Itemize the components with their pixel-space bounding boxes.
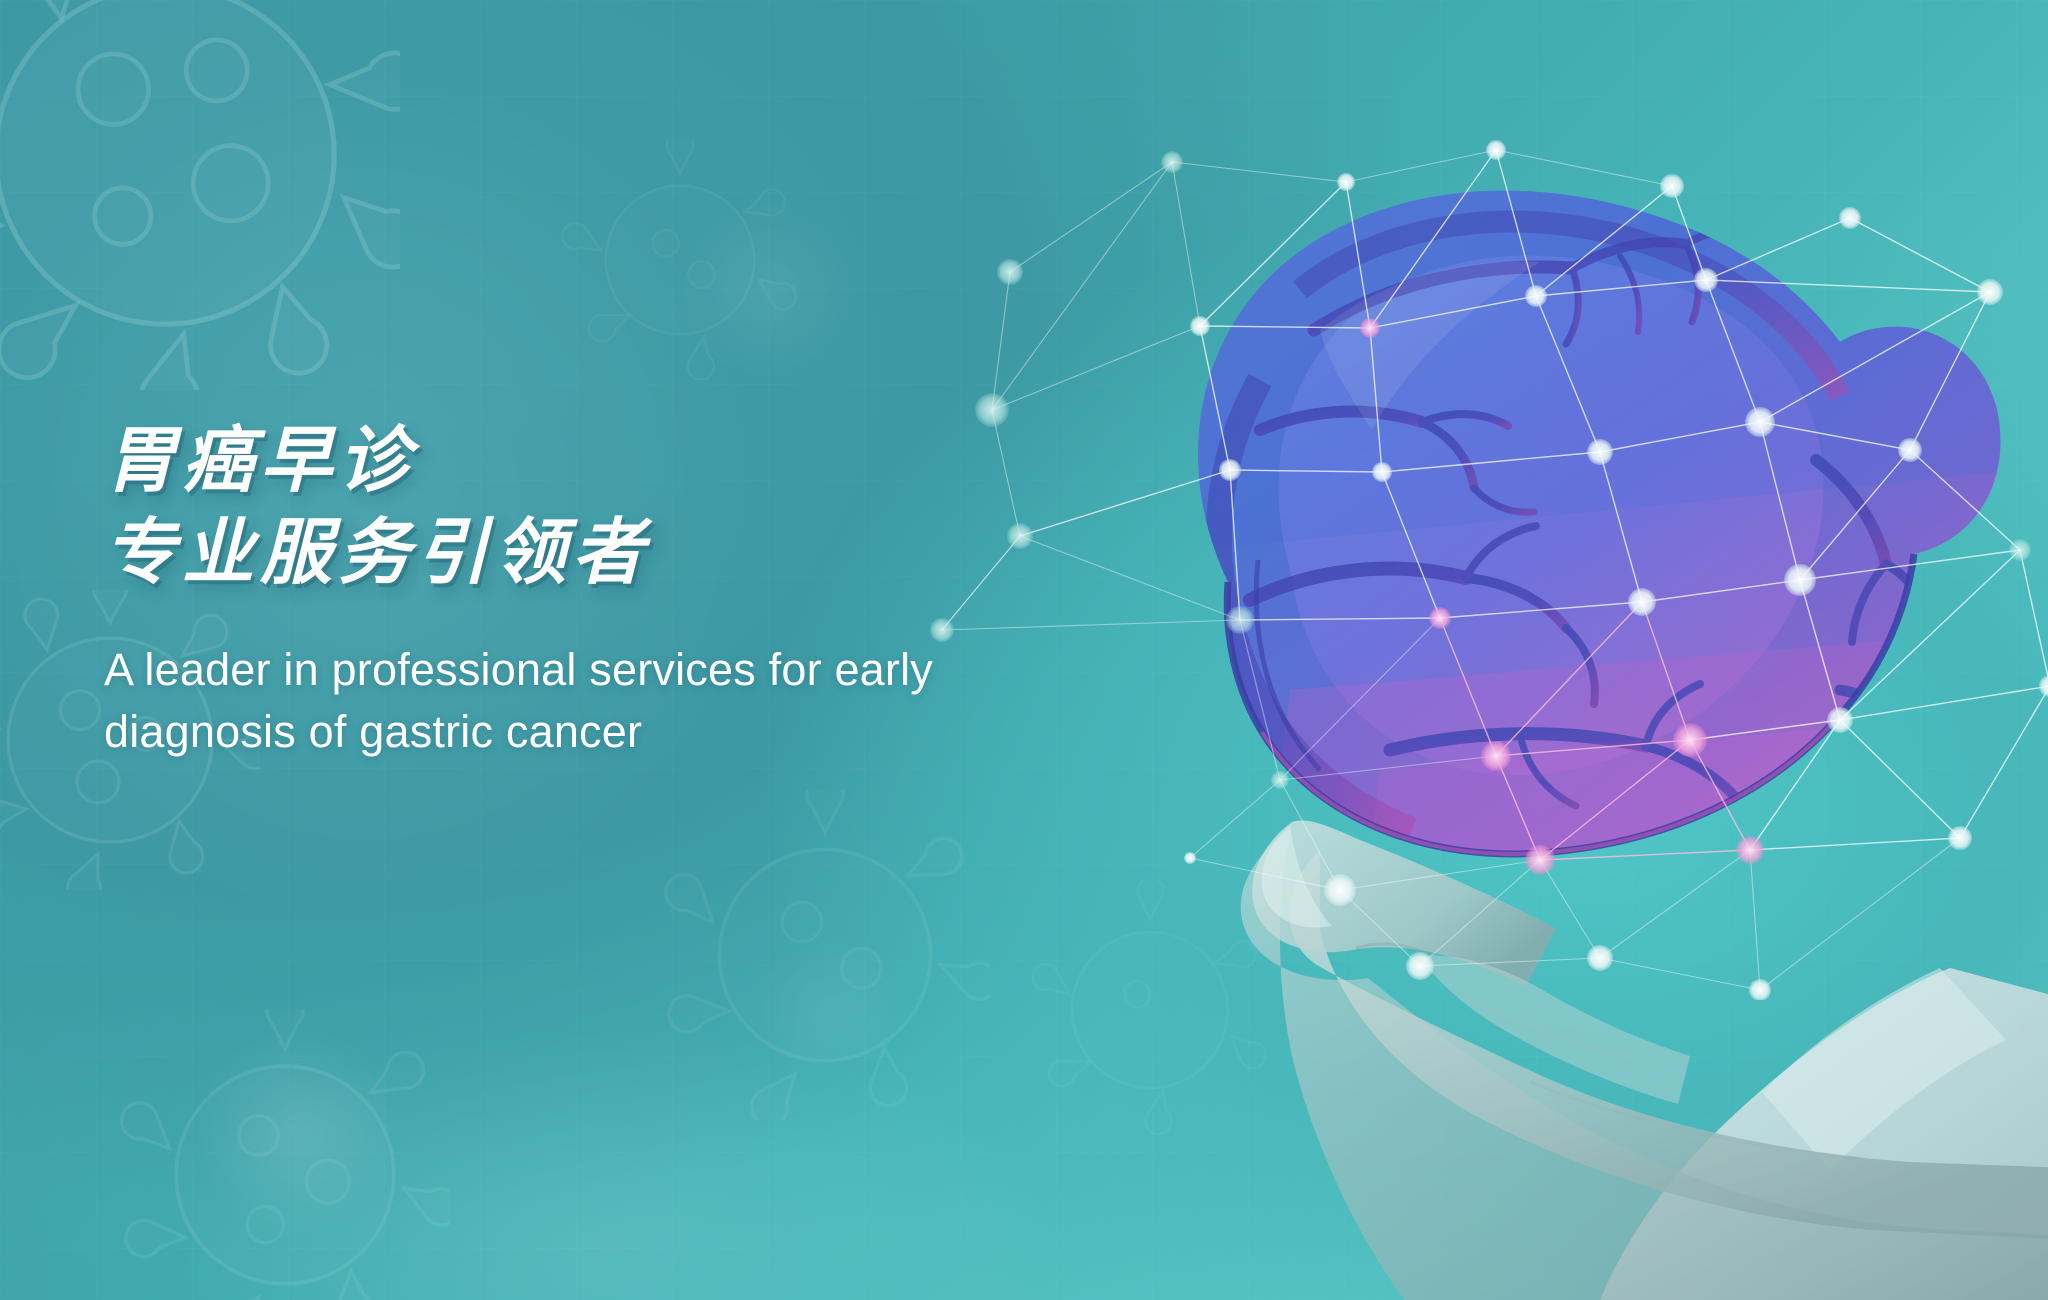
hero-copy: 胃癌早诊 专业服务引领者 A leader in professional se…: [104, 415, 1104, 763]
subtitle-line-1: A leader in professional services for ea…: [104, 639, 1104, 701]
subtitle-line-2: diagnosis of gastric cancer: [104, 701, 1104, 763]
page-title-line-1: 胃癌早诊: [104, 415, 1104, 507]
subtitle: A leader in professional services for ea…: [104, 639, 1104, 763]
page-title-line-2: 专业服务引领者: [104, 507, 1104, 599]
banner-root: 胃癌早诊 专业服务引领者 A leader in professional se…: [0, 0, 2048, 1300]
